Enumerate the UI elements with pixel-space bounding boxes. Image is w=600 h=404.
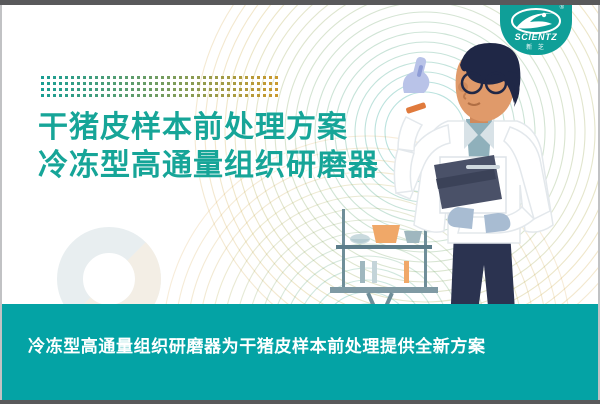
scientz-swoosh-icon	[510, 8, 562, 34]
poster-screenshot: 干猪皮样本前处理方案 冷冻型高通量组织研磨器	[0, 0, 600, 404]
scientz-wordmark-cn: 新 芝	[500, 42, 572, 51]
poster-artboard: 干猪皮样本前处理方案 冷冻型高通量组织研磨器	[2, 5, 598, 400]
headline-block: 干猪皮样本前处理方案 冷冻型高通量组织研磨器	[38, 109, 379, 185]
headline-line-1: 干猪皮样本前处理方案	[38, 109, 379, 147]
left-edge-border	[0, 5, 2, 400]
bottom-chrome-bar	[0, 400, 600, 404]
headline-line-2: 冷冻型高通量组织研磨器	[38, 147, 379, 185]
scientist-character	[362, 35, 598, 335]
gradient-dot-grid	[40, 75, 280, 99]
bottom-banner: 冷冻型高通量组织研磨器为干猪皮样本前处理提供全新方案	[2, 304, 598, 400]
scientz-wordmark: SCIENTZ	[500, 32, 572, 42]
top-chrome-bar	[0, 0, 600, 5]
scientz-shield-logo[interactable]: ® SCIENTZ 新 芝	[500, 0, 572, 55]
banner-text: 冷冻型高通量组织研磨器为干猪皮样本前处理提供全新方案	[28, 336, 486, 358]
